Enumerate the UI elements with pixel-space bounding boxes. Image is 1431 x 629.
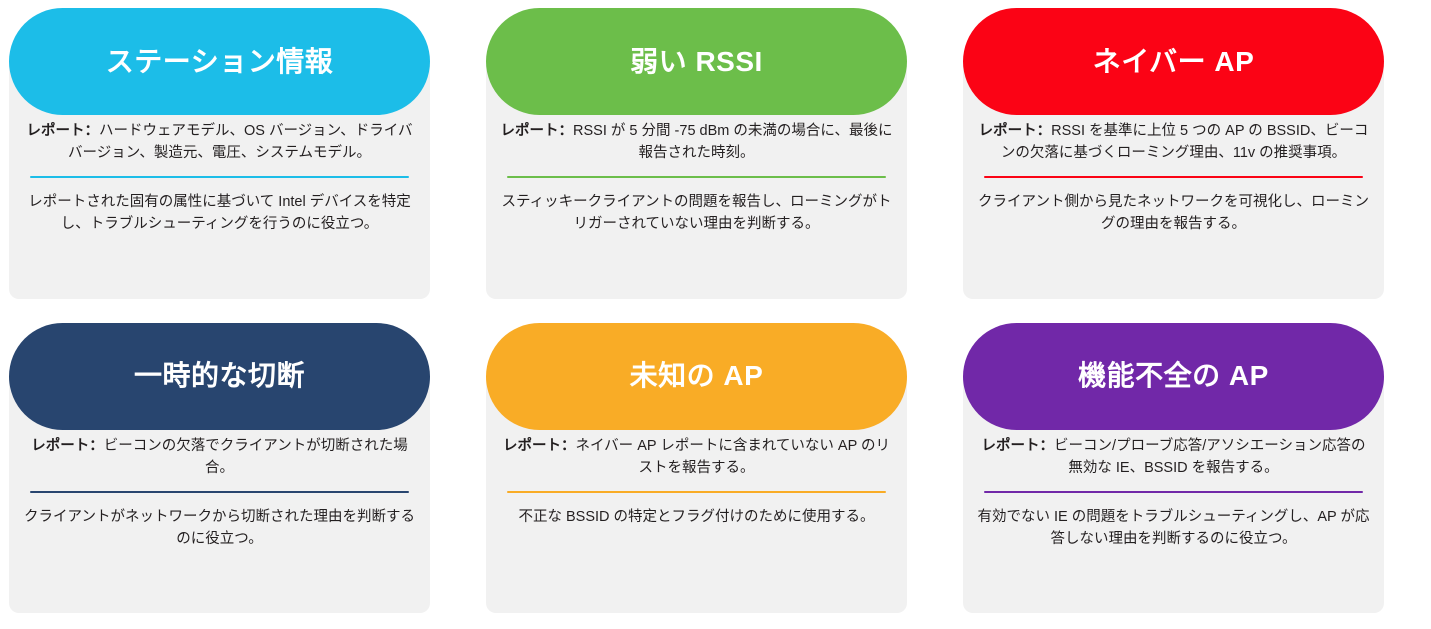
- card-header-pill: ネイバー AP: [963, 8, 1384, 115]
- card-purpose-text: 有効でない IE の問題をトラブルシューティングし、AP が応答しない理由を判断…: [976, 506, 1371, 551]
- card-report-label: レポート：: [503, 438, 576, 454]
- report-card-malfunctioning-ap: レポート：ビーコン/プローブ応答/アソシエーション応答の無効な IE、BSSID…: [954, 315, 1431, 629]
- card-report-text: レポート：RSSI を基準に上位 5 つの AP の BSSID、ビーコンの欠落…: [976, 120, 1371, 164]
- card-report-body: ビーコンの欠落でクライアントが切断された場合。: [104, 438, 408, 476]
- report-card-temporary-disconnect: レポート：ビーコンの欠落でクライアントが切断された場合。クライアントがネットワー…: [0, 315, 477, 629]
- card-divider: [984, 491, 1363, 493]
- card-report-body: ハードウェアモデル、OS バージョン、ドライババージョン、製造元、電圧、システム…: [68, 123, 412, 161]
- card-purpose-text: 不正な BSSID の特定とフラグ付けのために使用する。: [499, 506, 894, 528]
- card-inner: レポート：ビーコンの欠落でクライアントが切断された場合。クライアントがネットワー…: [9, 323, 430, 614]
- card-inner: レポート：ハードウェアモデル、OS バージョン、ドライババージョン、製造元、電圧…: [9, 8, 430, 299]
- card-title: 弱い RSSI: [620, 45, 773, 79]
- report-card-unknown-ap: レポート：ネイバー AP レポートに含まれていない AP のリストを報告する。不…: [477, 315, 954, 629]
- card-header-pill: 機能不全の AP: [963, 323, 1384, 430]
- card-purpose-text: レポートされた固有の属性に基づいて Intel デバイスを特定し、トラブルシュー…: [22, 191, 417, 236]
- card-report-text: レポート：ネイバー AP レポートに含まれていない AP のリストを報告する。: [499, 435, 894, 479]
- card-inner: レポート：ビーコン/プローブ応答/アソシエーション応答の無効な IE、BSSID…: [963, 323, 1384, 614]
- card-title: ステーション情報: [96, 45, 343, 79]
- report-card-weak-rssi: レポート：RSSI が 5 分間 -75 dBm の未満の場合に、最後に報告され…: [477, 0, 954, 315]
- card-divider: [984, 176, 1363, 178]
- card-divider: [507, 176, 886, 178]
- card-title: 一時的な切断: [124, 359, 315, 393]
- card-report-body: RSSI が 5 分間 -75 dBm の未満の場合に、最後に報告された時刻。: [573, 123, 892, 161]
- report-card-grid: レポート：ハードウェアモデル、OS バージョン、ドライババージョン、製造元、電圧…: [0, 0, 1431, 629]
- card-divider: [507, 491, 886, 493]
- card-purpose-text: クライアント側から見たネットワークを可視化し、ローミングの理由を報告する。: [976, 191, 1371, 236]
- card-inner: レポート：RSSI を基準に上位 5 つの AP の BSSID、ビーコンの欠落…: [963, 8, 1384, 299]
- card-report-label: レポート：: [501, 123, 574, 139]
- card-report-label: レポート：: [979, 123, 1052, 139]
- card-divider: [30, 491, 409, 493]
- card-report-label: レポート：: [26, 123, 99, 139]
- card-header-pill: 未知の AP: [486, 323, 907, 430]
- card-purpose-text: スティッキークライアントの問題を報告し、ローミングがトリガーされていない理由を判…: [499, 191, 894, 236]
- report-card-neighbor-ap: レポート：RSSI を基準に上位 5 つの AP の BSSID、ビーコンの欠落…: [954, 0, 1431, 315]
- card-report-text: レポート：RSSI が 5 分間 -75 dBm の未満の場合に、最後に報告され…: [499, 120, 894, 164]
- card-inner: レポート：ネイバー AP レポートに含まれていない AP のリストを報告する。不…: [486, 323, 907, 614]
- card-header-pill: 弱い RSSI: [486, 8, 907, 115]
- card-title: 機能不全の AP: [1068, 359, 1279, 393]
- card-report-label: レポート：: [31, 438, 104, 454]
- card-title: ネイバー AP: [1083, 45, 1265, 79]
- card-report-text: レポート：ハードウェアモデル、OS バージョン、ドライババージョン、製造元、電圧…: [22, 120, 417, 164]
- card-report-label: レポート：: [982, 438, 1055, 454]
- card-divider: [30, 176, 409, 178]
- card-header-pill: 一時的な切断: [9, 323, 430, 430]
- card-report-body: RSSI を基準に上位 5 つの AP の BSSID、ビーコンの欠落に基づくロ…: [1001, 123, 1369, 161]
- card-report-text: レポート：ビーコンの欠落でクライアントが切断された場合。: [22, 435, 417, 479]
- report-card-station-information: レポート：ハードウェアモデル、OS バージョン、ドライババージョン、製造元、電圧…: [0, 0, 477, 315]
- card-inner: レポート：RSSI が 5 分間 -75 dBm の未満の場合に、最後に報告され…: [486, 8, 907, 299]
- card-purpose-text: クライアントがネットワークから切断された理由を判断するのに役立つ。: [22, 506, 417, 551]
- card-header-pill: ステーション情報: [9, 8, 430, 115]
- card-title: 未知の AP: [620, 359, 774, 393]
- card-report-body: ビーコン/プローブ応答/アソシエーション応答の無効な IE、BSSID を報告す…: [1054, 438, 1365, 476]
- card-report-text: レポート：ビーコン/プローブ応答/アソシエーション応答の無効な IE、BSSID…: [976, 435, 1371, 479]
- card-report-body: ネイバー AP レポートに含まれていない AP のリストを報告する。: [575, 438, 890, 476]
